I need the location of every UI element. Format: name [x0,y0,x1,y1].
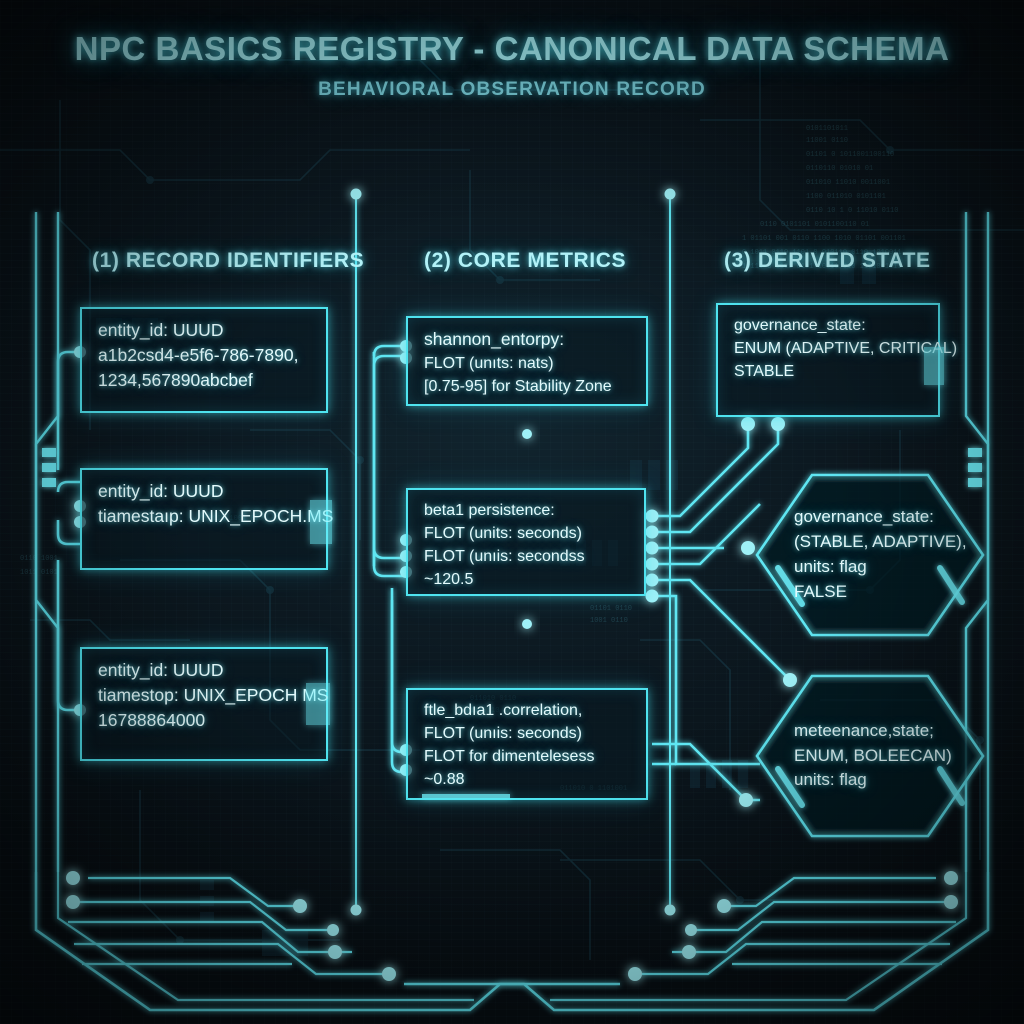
column-heading-record-identifiers: (1) RECORD IDENTIFIERS [92,249,364,273]
column-heading-derived-state: (3) DERIVED STATE [724,249,931,273]
node-line: entity_id: UUUD [98,658,312,683]
node-line: governance_state: [734,314,924,337]
node-line: beta1 persistence: [424,499,630,522]
node-line: a1b2csd4-e5f6-786-7890, [98,343,312,368]
box-accent-tick [422,794,510,798]
page-title: NPC BASICS REGISTRY - CANONICAL DATA SCH… [0,30,1024,68]
node-entity-id-timestamp-type[interactable]: entity_id: UUUD tiamestaıp: UNIX_EPOCH.M… [80,468,328,570]
node-ftle-beta1-correlation[interactable]: ftle_bdıa1 .correlation, FLOT (unıis: se… [406,688,648,800]
node-line: STABLE [734,360,924,383]
node-line: 16788864000 [98,708,312,733]
node-line: ENUM, BOLEECAN) [794,744,986,769]
node-governance-state-enum[interactable]: governance_state: ENUM (ADAPTIVE, CRITIC… [716,303,940,417]
node-shannon-entropy[interactable]: shannon_entorpy: FLOT (unıts: nats) [0.7… [406,316,648,406]
node-line: FLOT (unıis: secondss [424,545,630,568]
node-entity-id-uuid-value[interactable]: entity_id: UUUD a1b2csd4-e5f6-786-7890, … [80,307,328,413]
node-line: tiamestaıp: UNIX_EPOCH.MS [98,504,312,529]
column-heading-core-metrics: (2) CORE METRICS [424,249,626,273]
node-line: ENUM (ADAPTIVE, CRITICAL) [734,337,924,360]
node-line: entity_id: UUUD [98,479,312,504]
node-line: shannon_entorpy: [424,327,632,352]
node-line: FLOT for dimentelesess [424,745,632,768]
node-line: FLOT (unıis: seconds) [424,722,632,745]
node-line: (STABLE, ADAPTIVE), [794,530,986,555]
hexagon-text: meteenance,state; ENUM, BOLEECAN) units:… [754,719,986,793]
node-meteenance-state-flag[interactable]: meteenance,state; ENUM, BOLEECAN) units:… [754,673,986,839]
node-line: ftle_bdıa1 .correlation, [424,699,632,722]
header: NPC BASICS REGISTRY - CANONICAL DATA SCH… [0,30,1024,101]
box-accent-tick [924,347,944,385]
page-subtitle: BEHAVIORAL OBSERVATION RECORD [0,79,1024,101]
node-line: entity_id: UUUD [98,318,312,343]
node-line: [0.75-95] for Stability Zone [424,375,632,398]
node-line: meteenance,state; [794,719,986,744]
node-line: units: flag [794,768,986,793]
node-line: ~0.88 [424,768,632,791]
hexagon-text: governance_state: (STABLE, ADAPTIVE), un… [754,505,986,604]
node-line: tiamestop: UNIX_EPOCH MS [98,683,312,708]
node-entity-id-timestamp-value[interactable]: entity_id: UUUD tiamestop: UNIX_EPOCH MS… [80,647,328,761]
node-beta1-persistence[interactable]: beta1 persistence: FLOT (units: seconds)… [406,488,646,596]
node-line: units: flag [794,555,986,580]
node-line: FALSE [794,580,986,605]
node-governance-state-flag[interactable]: governance_state: (STABLE, ADAPTIVE), un… [754,472,986,638]
node-line: FLOT (unıts: nats) [424,352,632,375]
node-line: 1234,567890abcbef [98,368,312,393]
box-accent-tick [306,683,330,725]
node-line: governance_state: [794,505,986,530]
node-line: ~120.5 [424,568,630,591]
box-accent-tick [310,500,332,544]
node-line: FLOT (units: seconds) [424,522,630,545]
